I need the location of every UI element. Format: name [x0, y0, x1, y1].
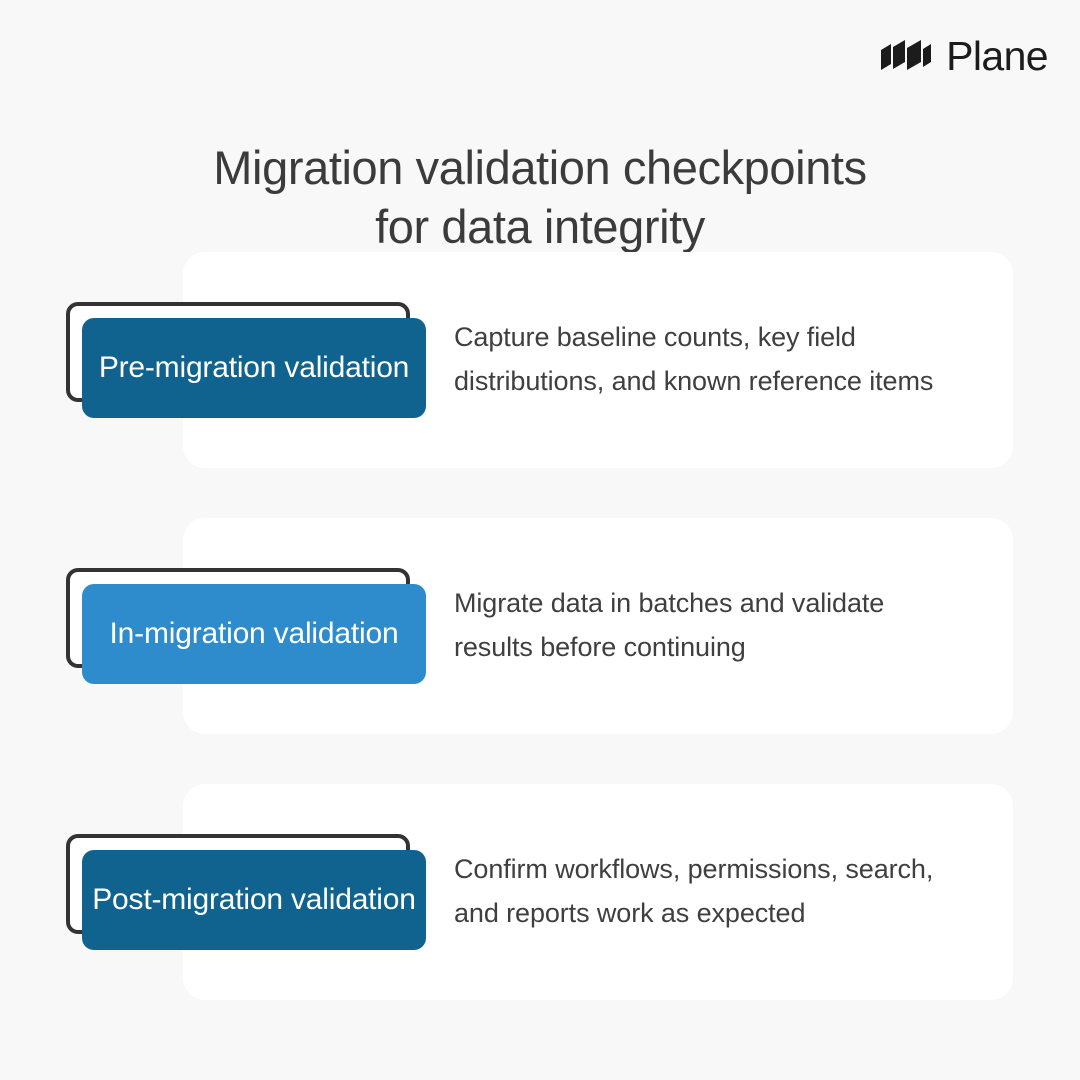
checkpoint-list: Pre-migration validation Capture baselin… — [0, 252, 1080, 1050]
checkpoint-description: Capture baseline counts, key field distr… — [454, 316, 934, 403]
badge-label: Post-migration validation — [82, 882, 426, 919]
checkpoint-badge[interactable]: In-migration validation — [66, 568, 426, 684]
page-title-line-1: Migration validation checkpoints — [0, 139, 1080, 197]
plane-logo-mark-icon — [879, 38, 933, 76]
checkpoint-badge[interactable]: Post-migration validation — [66, 834, 426, 950]
badge-label: In-migration validation — [100, 616, 409, 653]
badge-plate: In-migration validation — [82, 584, 426, 684]
checkpoint-row: Post-migration validation Confirm workfl… — [0, 784, 1080, 1000]
badge-label: Pre-migration validation — [89, 350, 419, 387]
checkpoint-row: In-migration validation Migrate data in … — [0, 518, 1080, 734]
checkpoint-row: Pre-migration validation Capture baselin… — [0, 252, 1080, 468]
checkpoint-description: Confirm workflows, permissions, search, … — [454, 848, 934, 935]
page-title-line-2: for data integrity — [0, 198, 1080, 256]
checkpoint-badge[interactable]: Pre-migration validation — [66, 302, 426, 418]
badge-plate: Pre-migration validation — [82, 318, 426, 418]
brand-logo: Plane — [879, 36, 1048, 77]
badge-plate: Post-migration validation — [82, 850, 426, 950]
checkpoint-description: Migrate data in batches and validate res… — [454, 582, 934, 669]
page-title: Migration validation checkpoints for dat… — [0, 139, 1080, 256]
brand-name: Plane — [946, 36, 1048, 77]
